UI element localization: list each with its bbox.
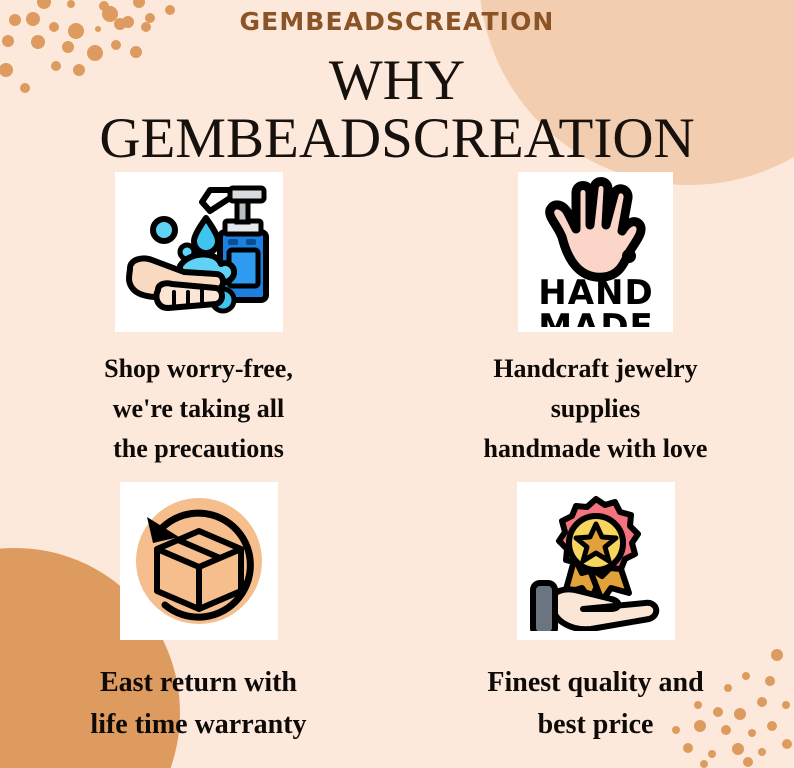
feature-caption: Handcraft jewelry supplies handmade with… (484, 349, 708, 469)
hand-holding-award-icon (525, 491, 667, 631)
poster-canvas: GEMBEADSCREATION WHY GEMBEADSCREATION (0, 0, 794, 768)
handwashing-icon (124, 182, 274, 322)
feature-caption: Shop worry-free, we're taking all the pr… (104, 349, 293, 469)
decorative-dot (111, 40, 121, 50)
package-return-icon (129, 491, 269, 631)
decorative-dot (2, 35, 14, 47)
svg-text:MADE: MADE (538, 307, 654, 327)
headline-line-2: GEMBEADSCREATION (0, 110, 794, 168)
feature-item-finest-quality: Finest quality and best price (397, 482, 794, 768)
feature-caption: Finest quality and best price (487, 662, 703, 746)
headline-line-1: WHY (0, 52, 794, 110)
handmade-icon: HAND MADE (528, 177, 664, 327)
feature-item-easy-return: East return with life time warranty (0, 482, 397, 768)
brand-title: GEMBEADSCREATION (0, 7, 794, 36)
feature-icon-card (120, 482, 278, 640)
feature-item-shop-worry-free: Shop worry-free, we're taking all the pr… (0, 172, 397, 482)
feature-icon-card (517, 482, 675, 640)
feature-icon-card (115, 172, 283, 332)
feature-item-handcraft-jewelry: HAND MADE Handcraft jewelry supplies han… (397, 172, 794, 482)
feature-grid: Shop worry-free, we're taking all the pr… (0, 172, 794, 768)
feature-caption: East return with life time warranty (90, 662, 306, 746)
feature-icon-card: HAND MADE (518, 172, 673, 332)
decorative-dot (31, 35, 45, 49)
page-headline: WHY GEMBEADSCREATION (0, 52, 794, 168)
